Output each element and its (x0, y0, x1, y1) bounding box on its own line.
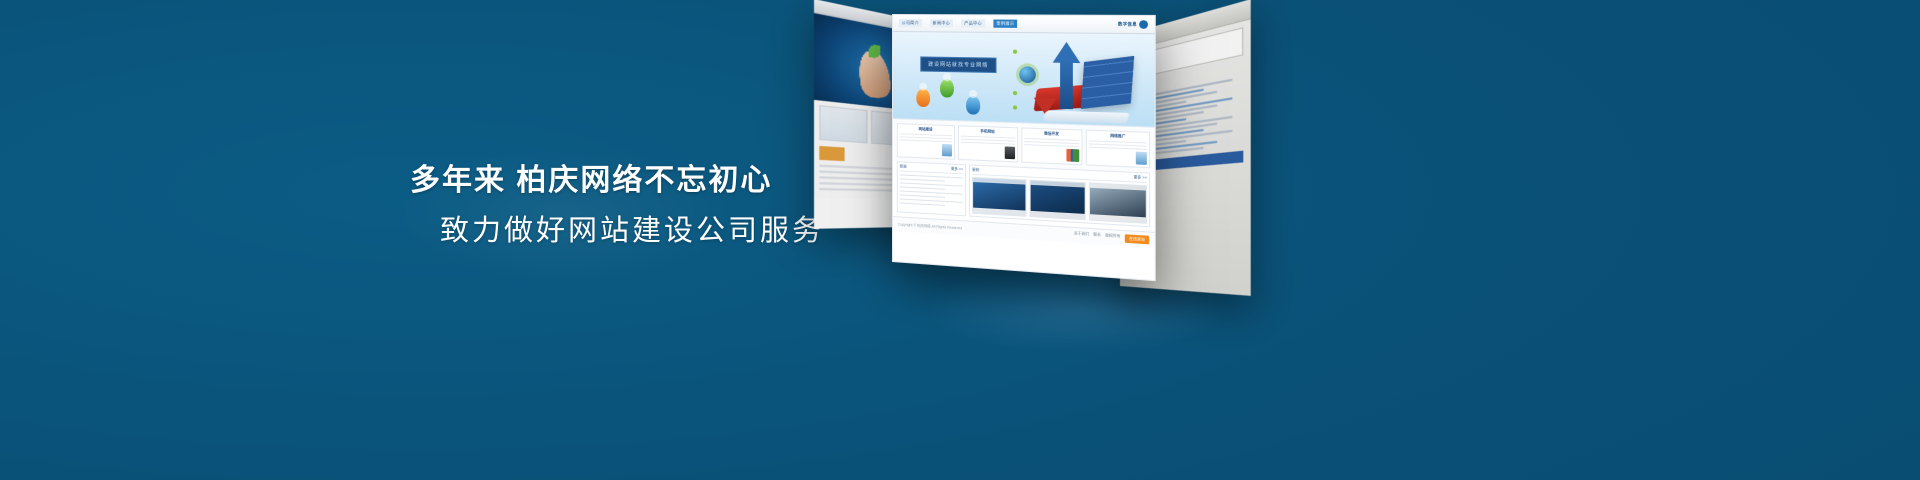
footer-link-2[interactable]: 版权所有 (1105, 233, 1120, 242)
feature-card[interactable]: 网络推广 (1086, 130, 1150, 169)
globe-icon (1019, 66, 1036, 83)
nav-spacer (1026, 24, 1109, 25)
gallery-thumbnail[interactable] (1030, 180, 1086, 221)
hero-banner: 多年来 柏庆网络不忘初心 致力做好网站建设公司服务 (0, 0, 1920, 480)
hero-banner-image: 建设网站就找专业网络 (893, 32, 1155, 128)
news-more-link[interactable]: 更多 >> (951, 167, 963, 173)
site-logo[interactable]: 数字信息 (1118, 20, 1148, 29)
website-screenshot-center[interactable]: 公司简介 新闻中心 产品中心 案例展示 数字信息 建设网站就找专业网络 (892, 14, 1156, 281)
contact-button[interactable]: 在线咨询 (1125, 234, 1149, 244)
bullet-dot-icon (1013, 105, 1017, 109)
feature-card[interactable]: 微信开发 (1021, 127, 1083, 165)
gallery-more-link[interactable]: 更多 >> (1134, 175, 1147, 181)
nav-item-2[interactable]: 产品中心 (961, 19, 985, 27)
feature-card[interactable]: 手机网站 (958, 125, 1018, 162)
document-icon (942, 144, 952, 157)
orb-head-icon (943, 73, 951, 81)
news-item[interactable] (900, 186, 945, 190)
orb-head-icon (919, 83, 927, 91)
thumbnail-browser-bar (1090, 184, 1146, 191)
up-arrow-stem (1060, 61, 1073, 110)
left-badge (819, 146, 844, 161)
gallery-heading: 案例 (972, 168, 979, 173)
footer-link-1[interactable]: 联系 (1093, 232, 1101, 241)
hero-title: 建设网站就找专业网络 (920, 56, 996, 73)
feature-card-line (1024, 144, 1080, 148)
news-item[interactable] (900, 202, 945, 206)
orb-head-icon (969, 90, 977, 98)
feature-card-line (900, 139, 952, 143)
bullet-dot-icon (1013, 50, 1017, 54)
footer-copyright: Copyright © 柏庆网络 All Rights Reserved (898, 222, 962, 231)
thumbnail-caption (1031, 211, 1085, 219)
news-heading: 新闻 (900, 164, 907, 169)
left-card[interactable] (819, 105, 868, 143)
logo-mark-icon (1139, 20, 1148, 29)
thumbnail-caption (1090, 214, 1146, 223)
thumbnail-browser-bar (973, 178, 1025, 185)
cube-grid-graphic (1081, 56, 1134, 109)
news-item[interactable] (900, 194, 945, 198)
thumbnail-browser-bar (1031, 181, 1085, 188)
thumbnail-caption (973, 208, 1025, 216)
site-logo-text: 数字信息 (1118, 21, 1137, 28)
news-item[interactable] (900, 178, 945, 182)
news-panel: 新闻 更多 >> (897, 161, 966, 216)
nav-item-1[interactable]: 新闻中心 (930, 19, 953, 27)
phone-icon (1004, 146, 1014, 159)
feature-card[interactable]: 网站建设 (897, 123, 955, 160)
feature-card-line (961, 141, 1015, 145)
footer-links: 关于我们 联系 版权所有 在线咨询 (1074, 231, 1149, 244)
orb-figure-green (940, 79, 954, 98)
nav-item-3[interactable]: 案例展示 (993, 20, 1017, 28)
news-panel-header: 新闻 更多 >> (900, 164, 963, 174)
monitor-icon (1136, 152, 1147, 165)
gallery-thumbnail[interactable] (972, 177, 1026, 217)
gallery-thumbnails (972, 177, 1147, 224)
website-showcase: BAHM 公司简介 (820, 0, 1340, 400)
gallery-panel: 案例 更多 >> (969, 164, 1150, 227)
orb-figure-orange (916, 89, 930, 108)
orb-figure-blue (966, 96, 980, 115)
nav-item-0[interactable]: 公司简介 (899, 19, 922, 27)
gallery-thumbnail[interactable] (1089, 182, 1147, 223)
bullet-dot-icon (1013, 91, 1017, 95)
feature-card-line (1089, 146, 1147, 150)
platform-base-graphic (1043, 111, 1130, 124)
grid-icon (1067, 149, 1080, 162)
footer-link-0[interactable]: 关于我们 (1074, 231, 1089, 240)
